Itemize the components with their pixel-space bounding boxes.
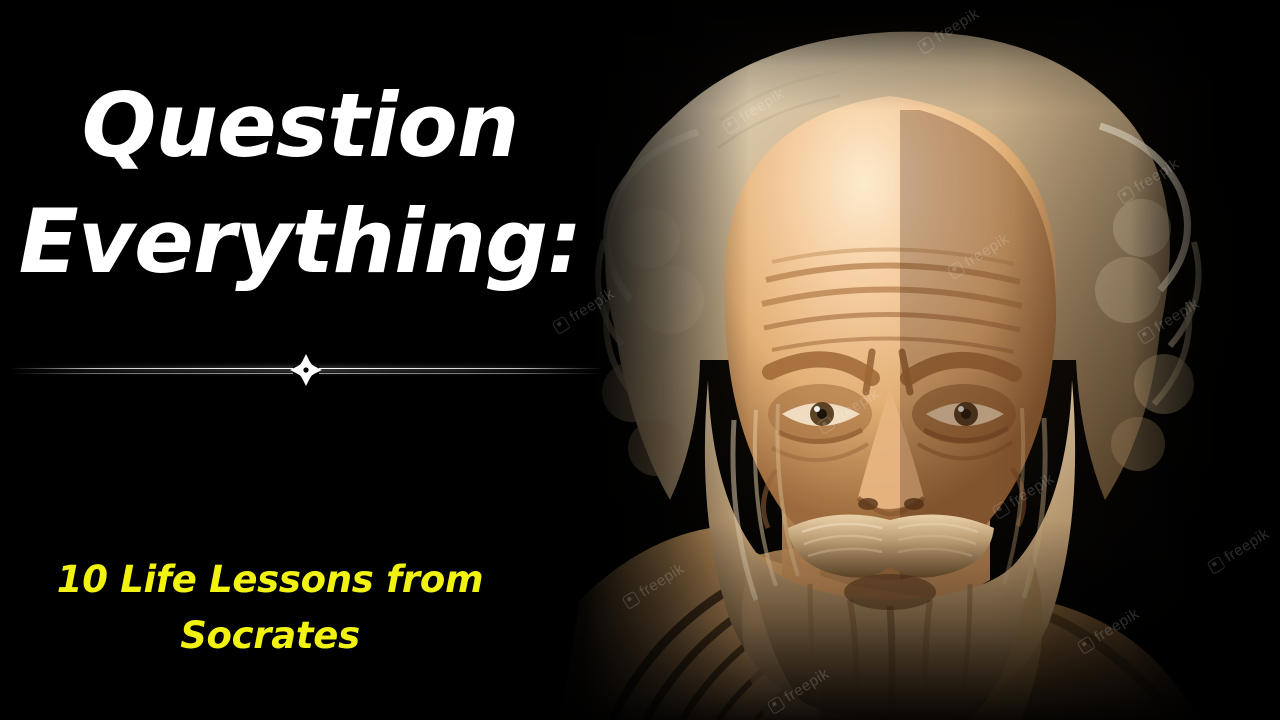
page-title: Question Everything: [0,68,600,300]
quatrefoil-ornament-icon [288,352,324,388]
page-subtitle: 10 Life Lessons from Socrates [0,552,540,663]
title-text-panel: Question Everything: 10 Life Lessons fro… [0,0,620,720]
socrates-portrait-image: freepikfreepikfreepikfreepikfreepikfreep… [520,0,1280,720]
page-subtitle-line-2: Socrates [0,608,540,664]
page-title-line-2: Everything: [0,184,600,300]
page-subtitle-line-1: 10 Life Lessons from [0,552,540,608]
page-title-line-1: Question [0,68,600,184]
video-thumbnail: freepikfreepikfreepikfreepikfreepikfreep… [0,0,1280,720]
socrates-bust-illustration [520,0,1280,720]
ornamental-divider [10,352,602,388]
